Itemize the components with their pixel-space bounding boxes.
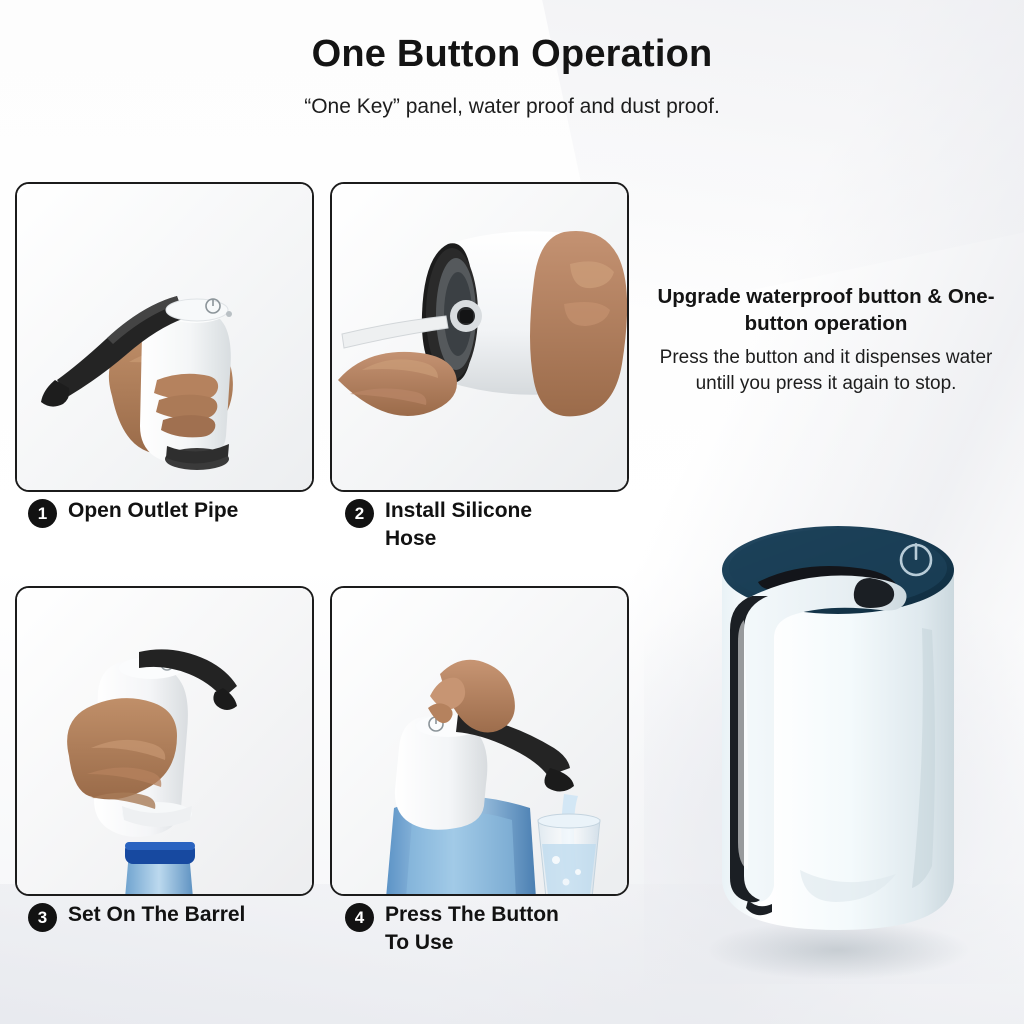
feature-heading: Upgrade waterproof button & One-button o… bbox=[636, 283, 1016, 338]
step-label-1: Open Outlet Pipe bbox=[68, 497, 238, 525]
step-label-4: Press The Button To Use bbox=[385, 901, 585, 956]
step-photo-4 bbox=[332, 588, 627, 894]
step-caption-1: 1 Open Outlet Pipe bbox=[28, 497, 318, 528]
step-4-illustration bbox=[332, 588, 627, 894]
hero-product-image bbox=[640, 450, 1020, 1010]
step-number-2: 2 bbox=[345, 499, 374, 528]
step-number-4: 4 bbox=[345, 903, 374, 932]
step-card-2 bbox=[330, 182, 629, 492]
feature-body: Press the button and it dispenses water … bbox=[646, 345, 1006, 397]
step-3-illustration bbox=[17, 588, 312, 894]
hero-illustration bbox=[640, 450, 1020, 1010]
step-card-3 bbox=[15, 586, 314, 896]
step-photo-2 bbox=[332, 184, 627, 490]
page-title: One Button Operation bbox=[0, 33, 1024, 76]
step-label-2: Install Silicone Hose bbox=[385, 497, 585, 552]
step-caption-4: 4 Press The Button To Use bbox=[345, 901, 635, 956]
step-number-3: 3 bbox=[28, 903, 57, 932]
step-photo-3 bbox=[17, 588, 312, 894]
step-number-1: 1 bbox=[28, 499, 57, 528]
step-photo-1 bbox=[17, 184, 312, 490]
step-2-illustration bbox=[332, 184, 627, 490]
page-subtitle: “One Key” panel, water proof and dust pr… bbox=[0, 95, 1024, 119]
step-1-illustration bbox=[17, 184, 312, 490]
step-caption-2: 2 Install Silicone Hose bbox=[345, 497, 635, 552]
infographic-page: One Button Operation “One Key” panel, wa… bbox=[0, 0, 1024, 1024]
step-card-1 bbox=[15, 182, 314, 492]
step-card-4 bbox=[330, 586, 629, 896]
step-label-3: Set On The Barrel bbox=[68, 901, 245, 929]
step-caption-3: 3 Set On The Barrel bbox=[28, 901, 318, 932]
